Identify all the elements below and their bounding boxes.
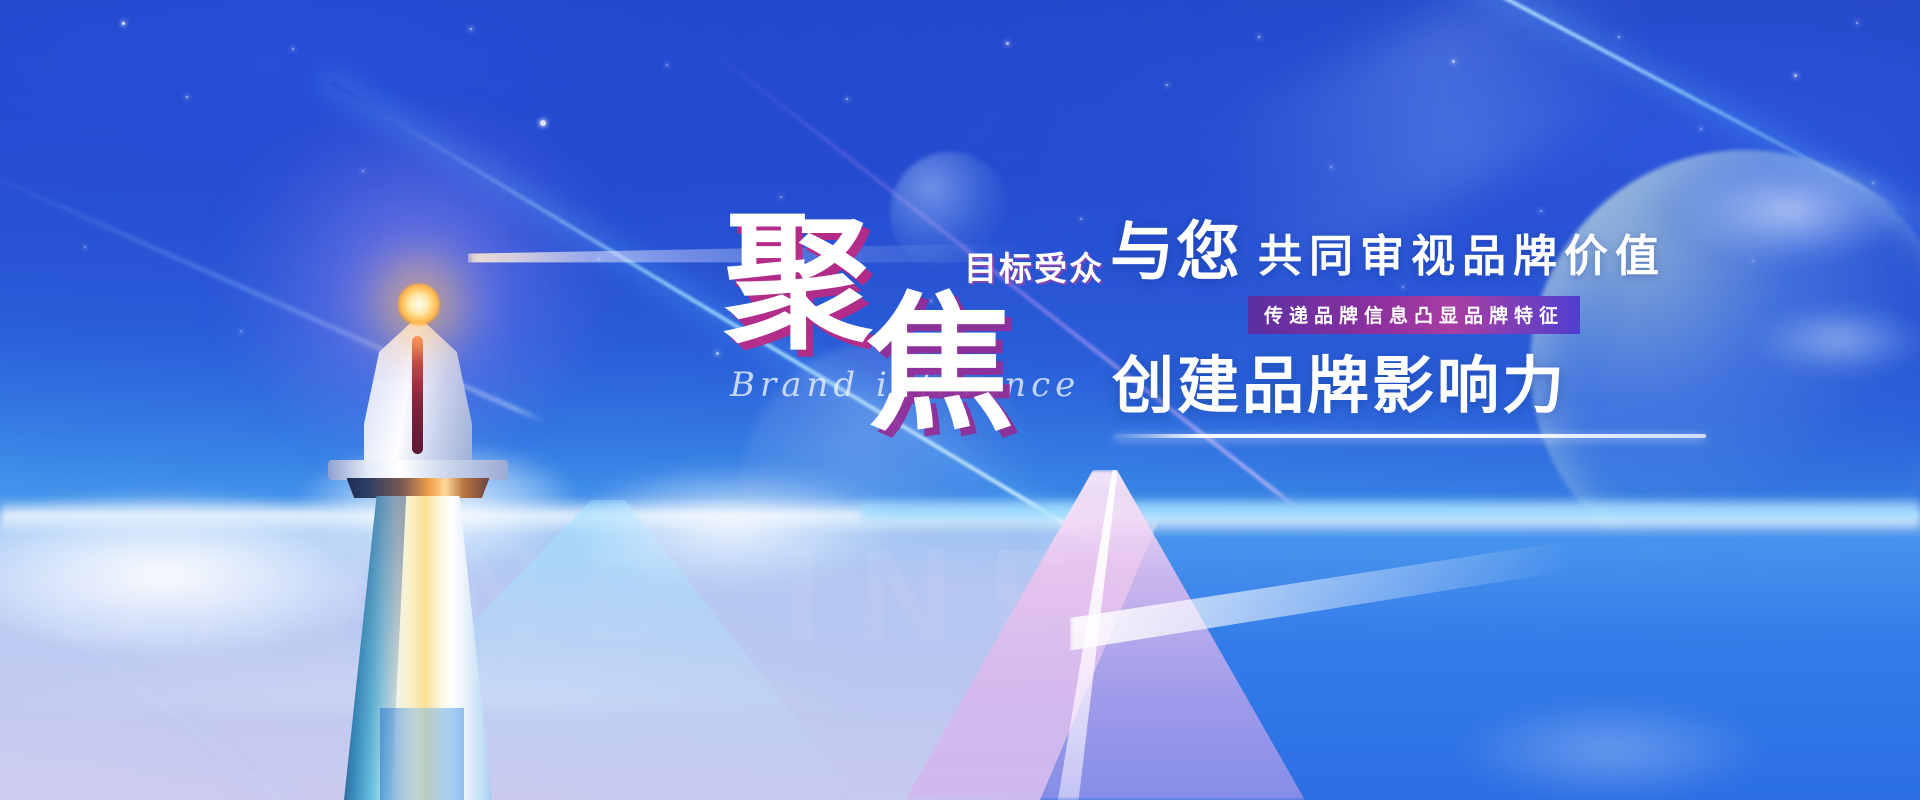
tower-collar	[328, 460, 508, 480]
brand-impact-text: 创建品牌影响力	[1112, 356, 1710, 418]
promo-banner: BRAND INFLUENCE Brand influence 聚 目标受众 焦	[0, 0, 1920, 800]
divider-rule	[1114, 434, 1706, 438]
sub-message-bar: 传递品牌信息凸显品牌特征	[1248, 296, 1580, 334]
light-source-icon	[397, 283, 441, 327]
pen-nib-icon	[364, 316, 472, 466]
headline-char-jiao: 焦	[866, 292, 1014, 440]
brand-value-text: 共同审视品牌价值	[1258, 235, 1666, 284]
pen-nib-lighthouse-icon	[318, 268, 518, 800]
tower-base	[380, 708, 464, 800]
nib-slit	[412, 336, 423, 454]
with-you-text: 与您	[1110, 220, 1242, 284]
message-block: 与您 共同审视品牌价值 传递品牌信息凸显品牌特征 创建品牌影响力	[1110, 220, 1710, 438]
primary-message-line: 与您 共同审视品牌价值	[1110, 220, 1710, 284]
headline-char-ju: 聚	[724, 210, 872, 358]
tower-collar-shade	[342, 478, 494, 498]
headline-block: Brand influence 聚 目标受众 焦 与您 共同审视品牌价值 传递品…	[700, 180, 1720, 580]
